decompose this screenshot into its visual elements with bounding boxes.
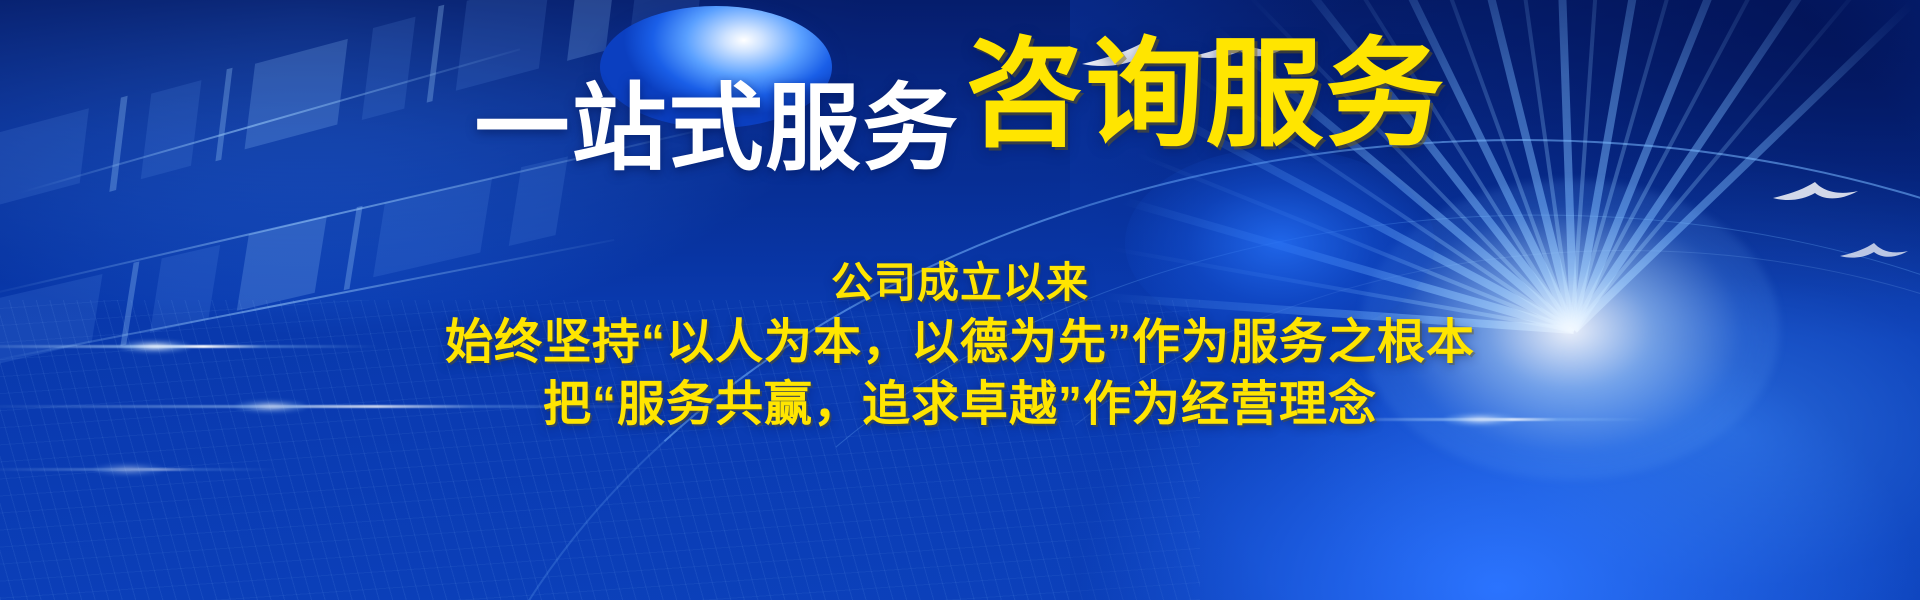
subtitle-line-1: 公司成立以来 xyxy=(0,258,1920,308)
subtitle-line-3: 把“服务共赢，追求卓越”作为经营理念 xyxy=(0,376,1920,434)
subtitle-block: 公司成立以来 始终坚持“以人为本，以德为先”作为服务之根本 把“服务共赢，追求卓… xyxy=(0,258,1920,434)
headline-yellow-text: 咨询服务 xyxy=(966,29,1446,161)
seagull-icon-3 xyxy=(1770,178,1862,212)
light-streak-4 xyxy=(0,468,280,471)
headline-white-text: 一站式服务 xyxy=(474,76,959,182)
subtitle-line-2: 始终坚持“以人为本，以德为先”作为服务之根本 xyxy=(0,314,1920,372)
headline: 一站式服务咨询服务 xyxy=(0,62,1920,180)
promo-banner: 一站式服务咨询服务 公司成立以来 始终坚持“以人为本，以德为先”作为服务之根本 … xyxy=(0,0,1920,600)
